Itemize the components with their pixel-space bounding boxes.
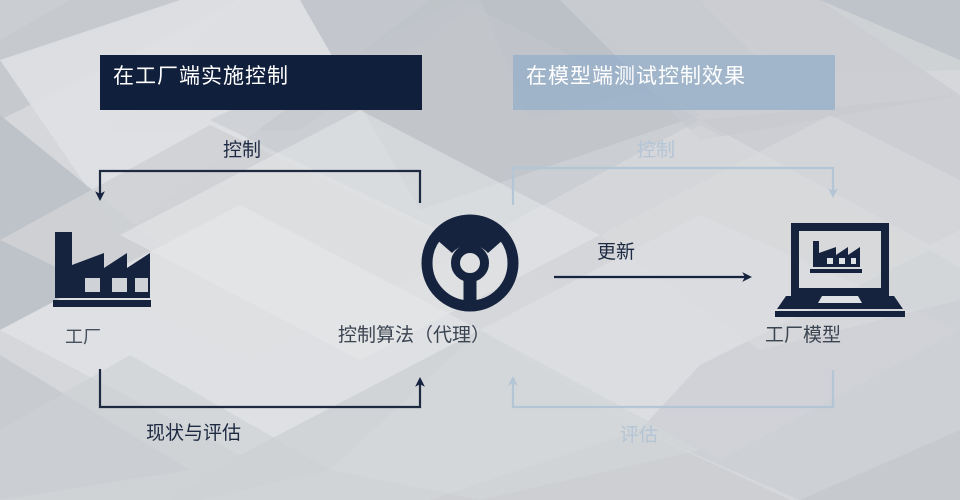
node-label-factory: 工厂: [65, 328, 101, 346]
steering-wheel-icon: [427, 220, 513, 306]
arrow-status-left: [100, 369, 420, 407]
laptop-factory-icon: [775, 227, 905, 317]
arrow-eval-right: [513, 370, 833, 407]
node-label-agent: 控制算法（代理）: [338, 326, 490, 345]
arrow-label-control-right: 控制: [637, 141, 675, 160]
arrow-label-update: 更新: [597, 243, 635, 262]
arrow-label-status-left: 现状与评估: [146, 424, 241, 443]
arrow-control-right: [513, 168, 833, 205]
diagram-canvas: 在工厂端实施控制 在模型端测试控制效果: [0, 0, 960, 500]
arrow-label-eval-right: 评估: [620, 426, 658, 445]
diagram-foreground: [0, 0, 960, 500]
arrow-control-left: [100, 171, 420, 203]
arrow-label-control-left: 控制: [223, 141, 261, 160]
node-label-model: 工厂模型: [765, 326, 841, 345]
factory-icon: [53, 232, 151, 307]
